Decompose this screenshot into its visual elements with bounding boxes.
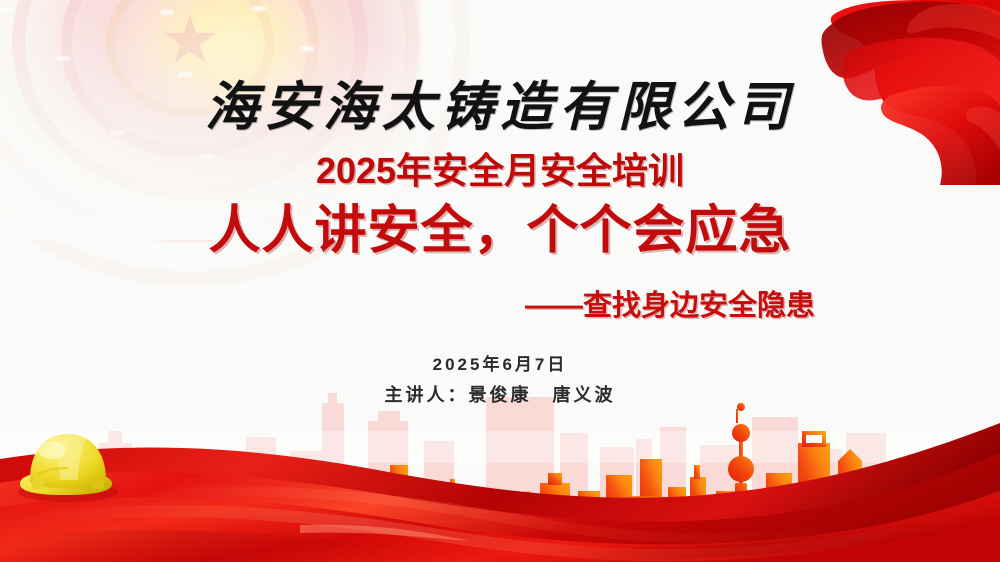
presentation-slide: 海安海太铸造有限公司 2025年安全月安全培训 人人讲安全，个个会应急 ——查找… <box>0 0 1000 562</box>
company-title: 海安海太铸造有限公司 <box>0 82 1000 135</box>
sub-slogan: ——查找身边安全隐患 <box>525 292 815 321</box>
slide-text-layer: 海安海太铸造有限公司 2025年安全月安全培训 人人讲安全，个个会应急 ——查找… <box>0 0 1000 562</box>
training-title: 2025年安全月安全培训 <box>0 153 1000 189</box>
presenter-names: 主讲人：景俊康 唐义波 <box>0 386 1000 404</box>
slide-date: 2025年6月7日 <box>0 356 1000 373</box>
main-slogan: 人人讲安全，个个会应急 <box>0 204 1000 259</box>
